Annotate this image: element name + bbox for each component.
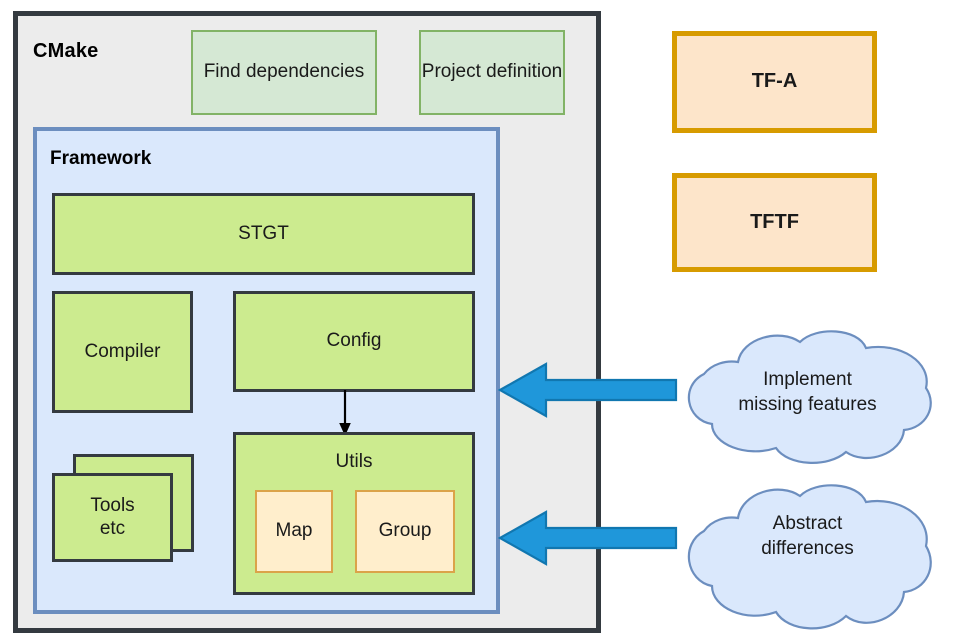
box-project-definition: Project definition — [419, 30, 565, 115]
box-config: Config — [233, 291, 475, 392]
cloud-implement-missing-features — [676, 328, 938, 464]
framework-label: Framework — [50, 148, 151, 170]
tools-stack-front-card: Tools etc — [52, 473, 173, 562]
arrow-implement-missing-features — [498, 360, 678, 420]
box-stgt: STGT — [52, 193, 475, 275]
box-map: Map — [255, 490, 333, 573]
connector-config-to-utils-arrow — [333, 390, 357, 436]
tools-label-line1: Tools — [90, 495, 134, 517]
box-tftf: TFTF — [672, 173, 877, 272]
cmake-label: CMake — [33, 40, 98, 63]
box-find-dependencies: Find dependencies — [191, 30, 377, 115]
tools-label-line2: etc — [100, 518, 125, 540]
cloud-abstract-differences — [676, 480, 938, 630]
box-compiler: Compiler — [52, 291, 193, 413]
arrow-abstract-differences — [498, 508, 678, 568]
box-tf-a: TF-A — [672, 31, 877, 133]
box-group: Group — [355, 490, 455, 573]
diagram-canvas: CMake Find dependencies Project definiti… — [0, 0, 964, 644]
